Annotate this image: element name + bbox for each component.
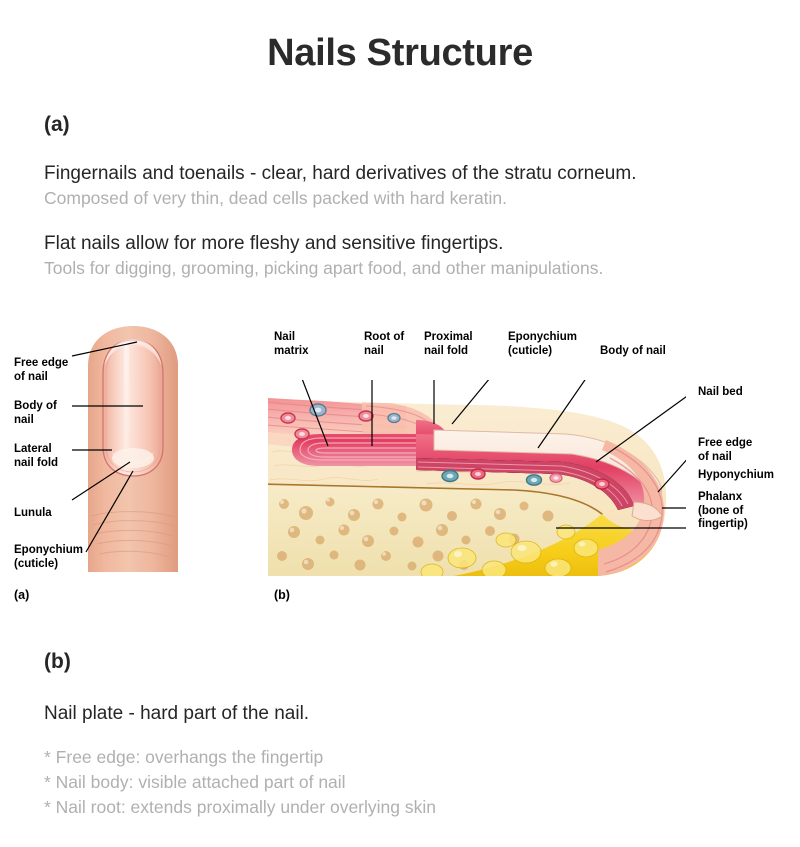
figure-b-label-root-of-nail: Root of nail — [364, 331, 404, 358]
section-a-line2-gray: Tools for digging, grooming, picking apa… — [44, 258, 603, 279]
figure-b-label-body-of-nail: Body of nail — [600, 345, 666, 359]
figure-b-label-phalanx: Phalanx (bone of fingertip) — [698, 491, 748, 532]
figure-a-label-eponychium: Eponychium (cuticle) — [14, 544, 83, 571]
figure-b-label-nail-matrix: Nail matrix — [274, 331, 309, 358]
nail-plate — [103, 339, 163, 476]
figure-b-cross-section — [266, 380, 686, 585]
section-a-line2-dark: Flat nails allow for more fleshy and sen… — [44, 233, 503, 255]
section-b-line1-dark: Nail plate - hard part of the nail. — [44, 703, 309, 725]
figure-b-label-free-edge-of-nail: Free edge of nail — [698, 437, 752, 464]
page-title: Nails Structure — [0, 32, 800, 75]
section-a-marker: (a) — [44, 113, 70, 137]
section-b-bullets: * Free edge: overhangs the fingertip * N… — [44, 745, 436, 820]
figure-a-label-body-of-nail: Body of nail — [14, 400, 57, 427]
figure-b-label-hyponychium: Hyponychium — [698, 469, 774, 483]
figure-b-label-proximal-nail-fold: Proximal nail fold — [424, 331, 473, 358]
figure-a-caption: (a) — [14, 588, 29, 602]
figure-a-label-lunula: Lunula — [14, 507, 52, 521]
section-a-line1-gray: Composed of very thin, dead cells packed… — [44, 188, 507, 209]
figure-a-label-lateral-nail-fold: Lateral nail fold — [14, 443, 58, 470]
section-a-line1-dark: Fingernails and toenails - clear, hard d… — [44, 163, 636, 185]
figure-b-label-eponychium: Eponychium (cuticle) — [508, 331, 577, 358]
figure-b-label-nail-bed: Nail bed — [698, 386, 743, 400]
figure-b-caption: (b) — [274, 588, 290, 602]
page-root: Nails Structure (a) Fingernails and toen… — [0, 0, 800, 847]
figure-a-label-free-edge-of-nail: Free edge of nail — [14, 357, 68, 384]
section-b-marker: (b) — [44, 650, 71, 674]
